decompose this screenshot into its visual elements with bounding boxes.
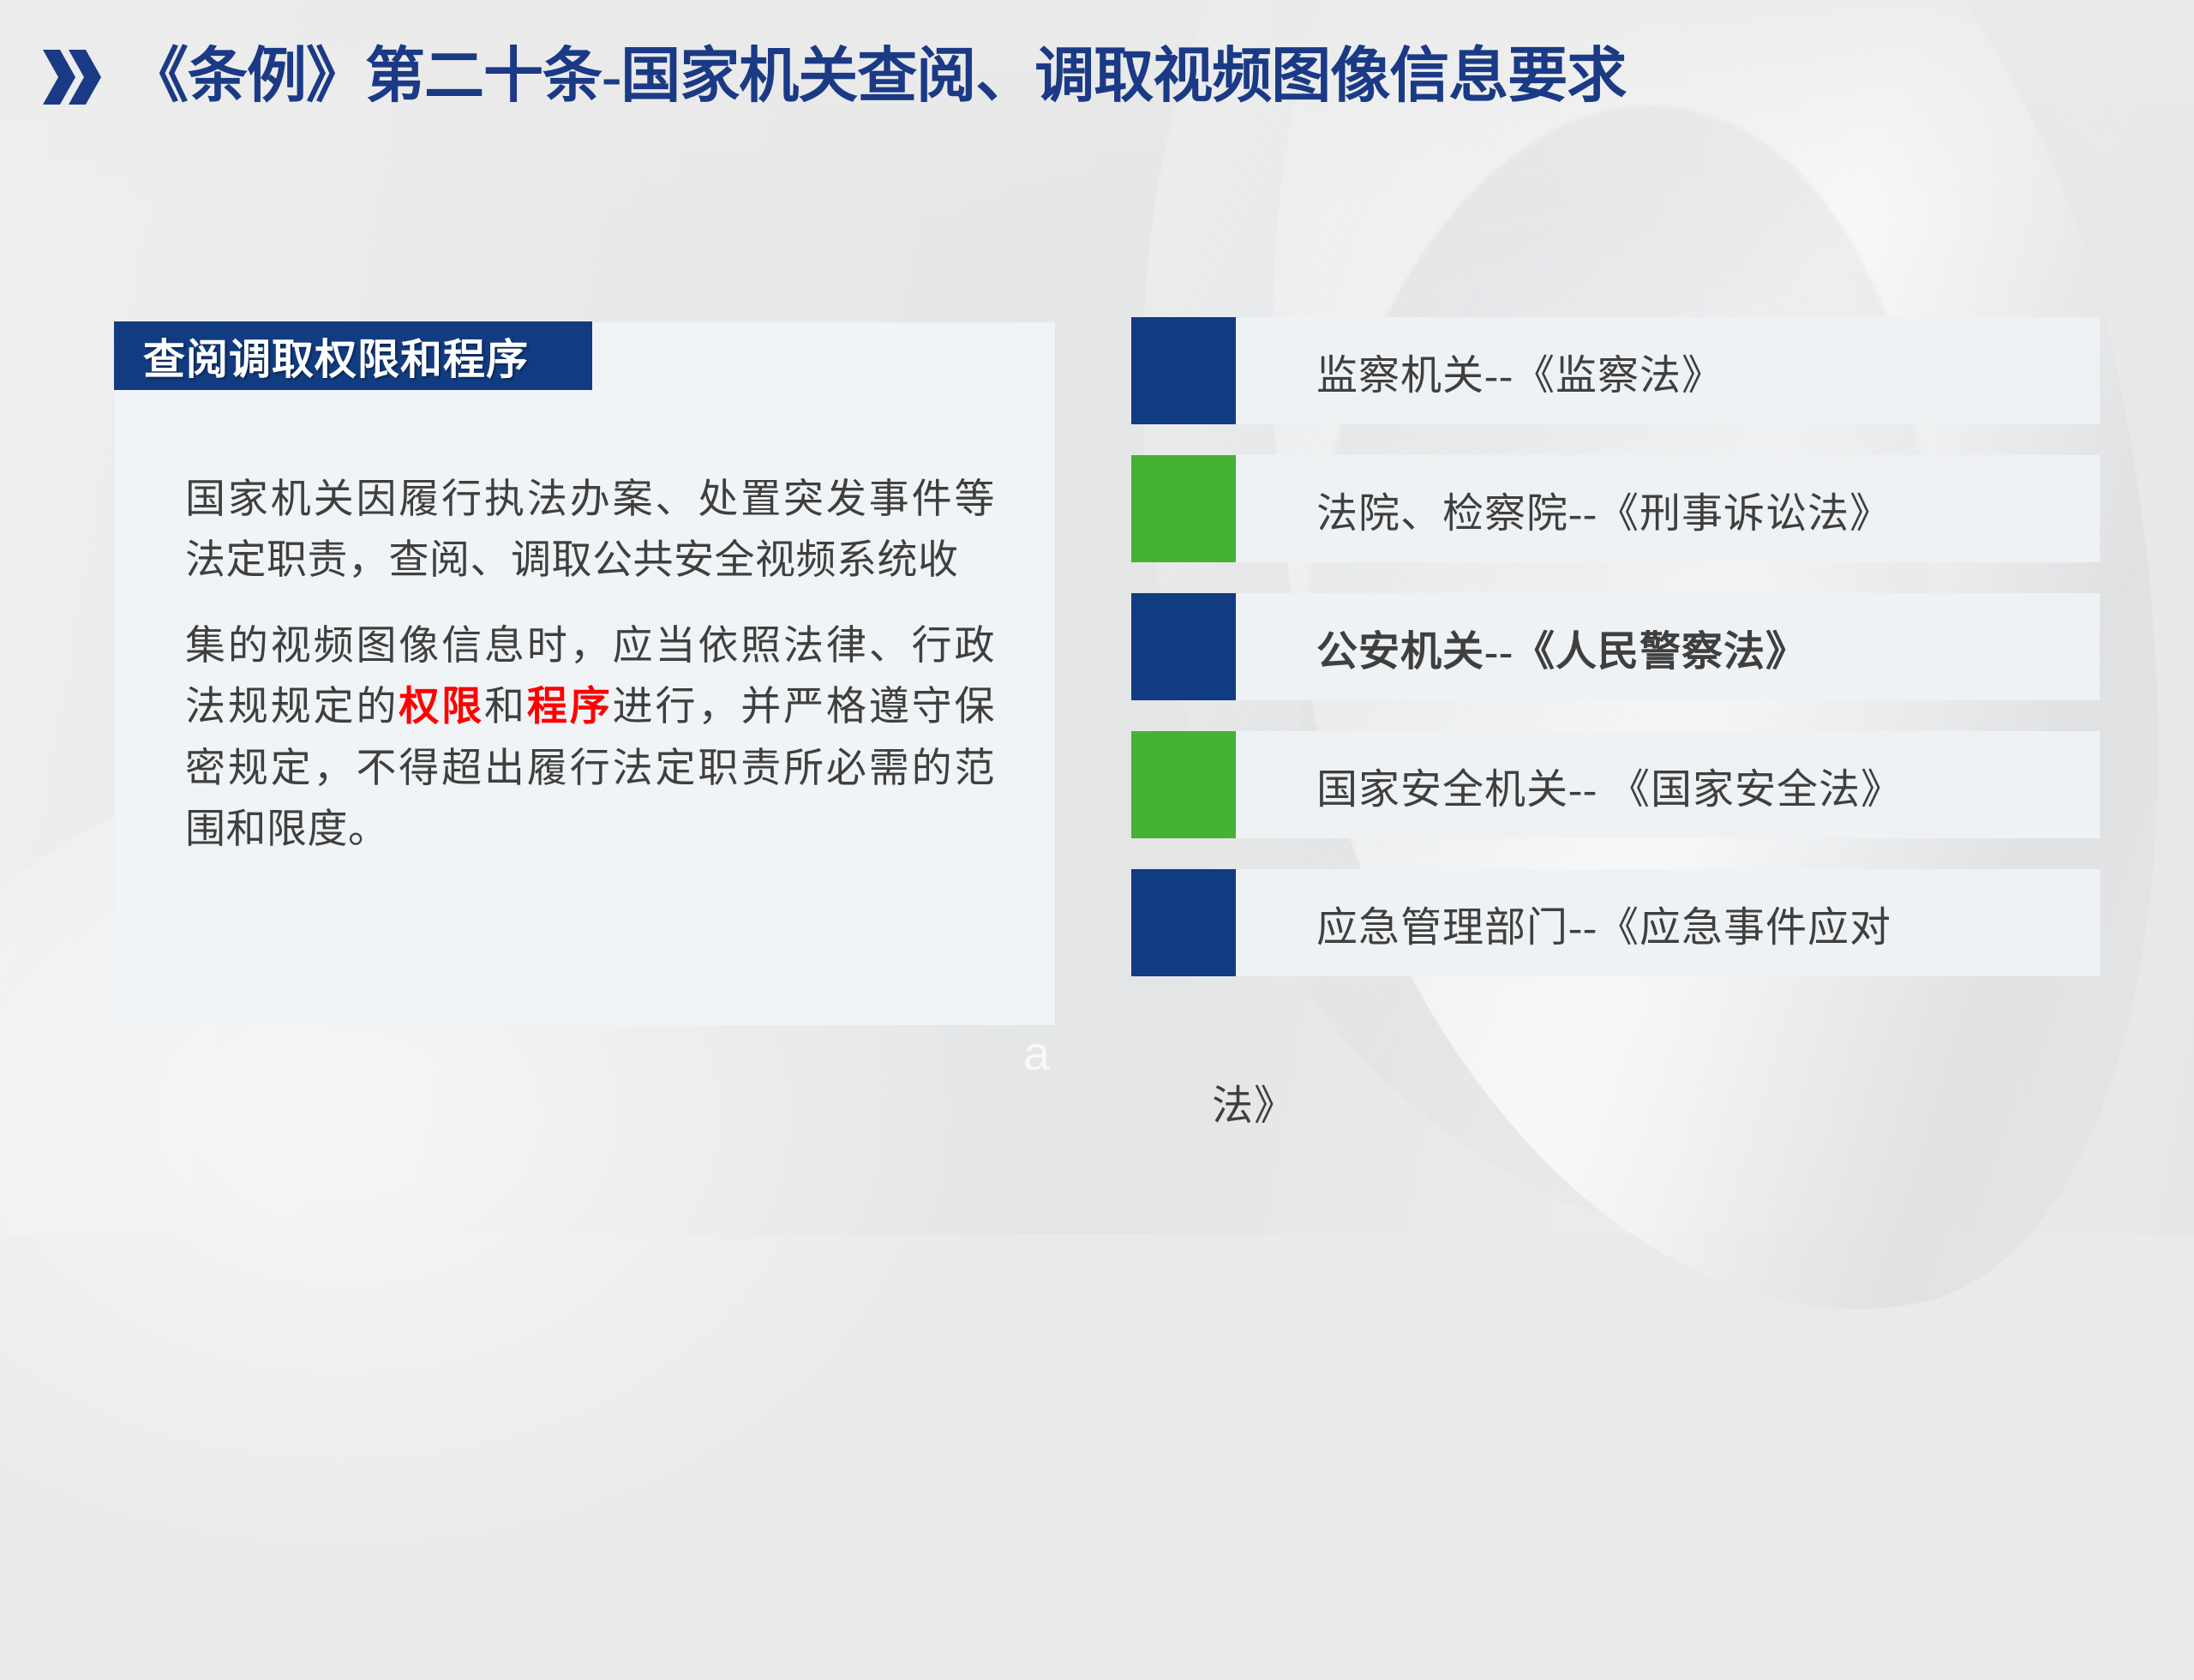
row-panel: 应急管理部门--《应急事件应对	[1236, 869, 2100, 976]
page-title: 《条例》第二十条-国家机关查阅、调取视频图像信息要求	[129, 46, 1626, 107]
paragraph-text: 和	[484, 685, 527, 729]
row-panel: 法院、检察院--《刑事诉讼法》	[1236, 455, 2100, 562]
row-color-bar	[1131, 317, 1236, 424]
authority-law-row[interactable]: 监察机关--《监察法》	[1131, 317, 2100, 424]
row-label: 监察机关--《监察法》	[1236, 341, 1723, 401]
authority-law-row[interactable]: 法院、检察院--《刑事诉讼法》	[1131, 455, 2100, 562]
permissions-paragraph: 集的视频图像信息时，应当依照法律、行政法规规定的权限和程序进行，并严格遵守保密规…	[185, 616, 995, 861]
highlighted-term: 程序	[527, 685, 613, 729]
row-label: 法院、检察院--《刑事诉讼法》	[1236, 479, 1891, 539]
authority-law-row[interactable]: 国家安全机关-- 《国家安全法》	[1131, 731, 2100, 838]
permissions-paragraph: 国家机关因履行执法办案、处置突发事件等法定职责，查阅、调取公共安全视频系统收	[185, 470, 995, 592]
row-color-bar	[1131, 731, 1236, 838]
row-label: 公安机关--《人民警察法》	[1236, 617, 1807, 677]
row-panel: 国家安全机关-- 《国家安全法》	[1236, 731, 2100, 838]
row-color-bar	[1131, 593, 1236, 700]
highlighted-term: 权限	[399, 685, 484, 729]
row-panel: 监察机关--《监察法》	[1236, 317, 2100, 424]
paragraph-text: 国家机关因履行执法办案、处置突发事件等法定职责，查阅、调取公共安全视频系统收	[185, 477, 995, 583]
permissions-card: 查阅调取权限和程序 国家机关因履行执法办案、处置突发事件等法定职责，查阅、调取公…	[115, 322, 1055, 1025]
authority-law-list: 监察机关--《监察法》法院、检察院--《刑事诉讼法》公安机关--《人民警察法》国…	[1131, 317, 2100, 1007]
double-chevron-right-icon	[39, 45, 106, 110]
row-panel: 公安机关--《人民警察法》	[1236, 593, 2100, 700]
row-color-bar	[1131, 869, 1236, 976]
row-label: 国家安全机关-- 《国家安全法》	[1236, 755, 1903, 815]
authority-law-row[interactable]: 公安机关--《人民警察法》	[1131, 593, 2100, 700]
row-color-bar	[1131, 455, 1236, 562]
authority-law-overflow-text: 法》	[1212, 1071, 1296, 1131]
authority-law-row[interactable]: 应急管理部门--《应急事件应对	[1131, 869, 2100, 976]
slide-title-row: 《条例》第二十条-国家机关查阅、调取视频图像信息要求	[39, 45, 1626, 110]
permissions-card-header: 查阅调取权限和程序	[114, 321, 592, 390]
row-label: 应急管理部门--《应急事件应对	[1236, 893, 1891, 953]
permissions-card-body: 国家机关因履行执法办案、处置突发事件等法定职责，查阅、调取公共安全视频系统收集的…	[185, 470, 995, 885]
permissions-card-header-label: 查阅调取权限和程序	[114, 326, 529, 387]
